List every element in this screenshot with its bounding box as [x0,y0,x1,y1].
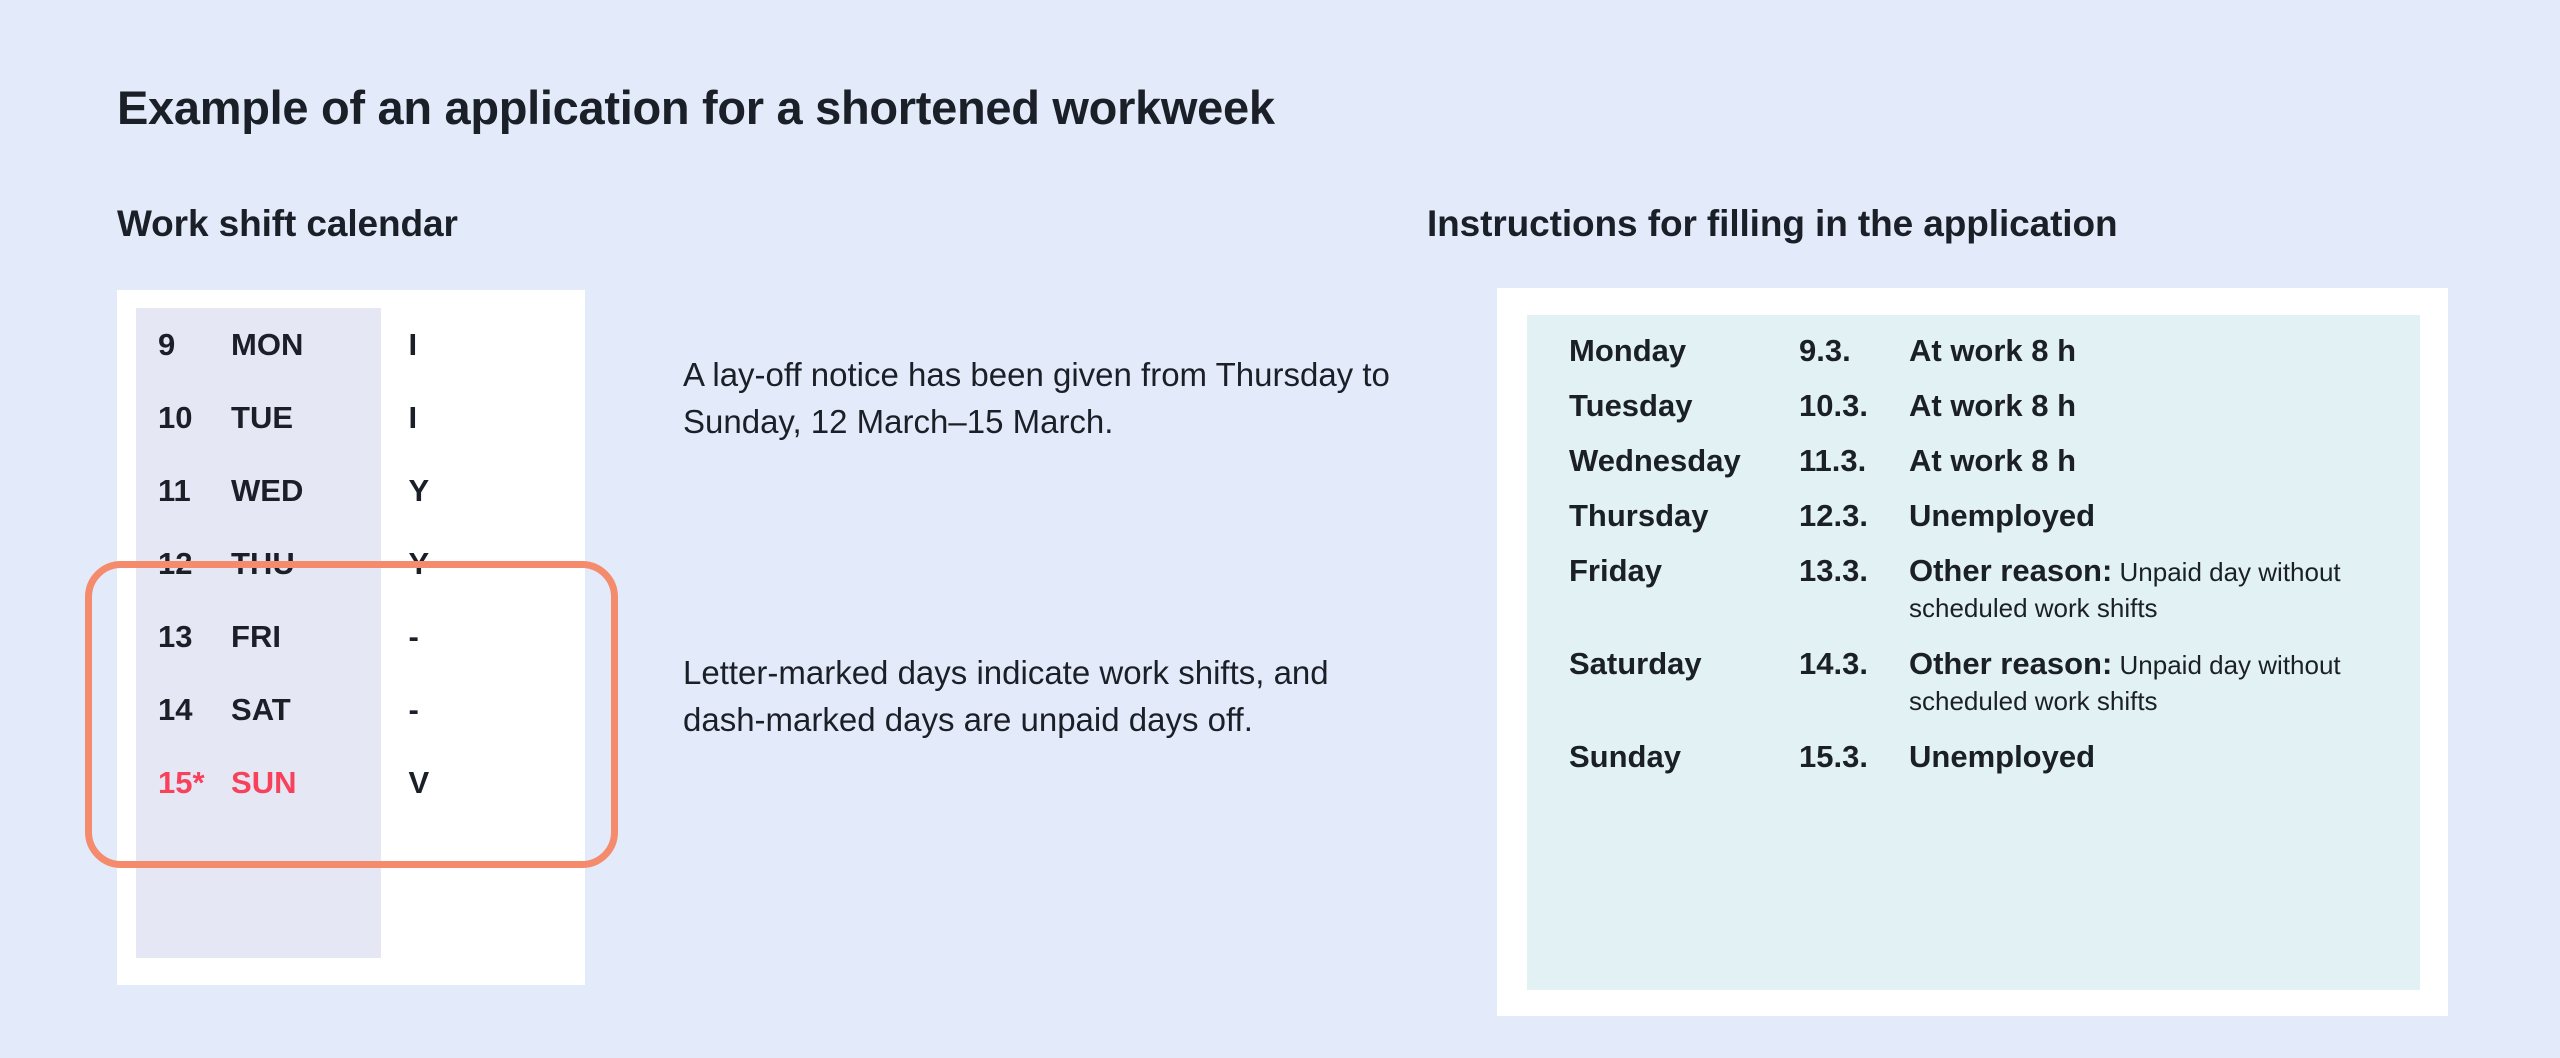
instruction-status-label: Unemployed [1909,739,2095,774]
calendar-day-number: 12 [136,527,231,600]
instruction-status: At work 8 h [1909,333,2399,369]
calendar-day-name: MON [231,308,365,381]
instruction-row: Wednesday11.3.At work 8 h [1569,443,2399,479]
instruction-status-label: Unemployed [1909,498,2095,533]
instruction-status: Unemployed [1909,739,2399,775]
calendar-day-number: 14 [136,673,231,746]
instruction-date: 13.3. [1799,553,1909,589]
calendar-shift-mark: Y [365,454,576,527]
calendar-shift-mark: V [365,746,576,819]
calendar-day-name: FRI [231,600,365,673]
calendar-day-name: TUE [231,381,365,454]
calendar-row: 15*SUNV [136,746,576,819]
explanation-letter-marks: Letter-marked days indicate work shifts,… [683,650,1413,744]
instruction-status: At work 8 h [1909,443,2399,479]
instruction-date: 9.3. [1799,333,1909,369]
instruction-date: 12.3. [1799,498,1909,534]
calendar-row: 14SAT- [136,673,576,746]
calendar-day-name: WED [231,454,365,527]
instruction-row: Saturday14.3.Other reason: Unpaid day wi… [1569,646,2399,718]
instruction-row: Sunday15.3.Unemployed [1569,739,2399,775]
calendar-day-number: 13 [136,600,231,673]
instruction-status: Other reason: Unpaid day without schedul… [1909,646,2399,718]
calendar-day-number: 9 [136,308,231,381]
page-title: Example of an application for a shortene… [117,80,1275,135]
instruction-day-name: Monday [1569,333,1799,369]
instruction-row: Tuesday10.3.At work 8 h [1569,388,2399,424]
instruction-day-name: Tuesday [1569,388,1799,424]
instruction-row: Friday13.3.Other reason: Unpaid day with… [1569,553,2399,625]
calendar-row: 11WEDY [136,454,576,527]
work-shift-calendar-card: 9MONI10TUEI11WEDY12THUY13FRI-14SAT-15*SU… [117,290,585,985]
instructions-inner-panel: Monday9.3.At work 8 hTuesday10.3.At work… [1527,315,2420,990]
calendar-row: 13FRI- [136,600,576,673]
instruction-status-label: Other reason: [1909,553,2112,588]
instruction-status-label: At work 8 h [1909,443,2076,478]
instruction-day-name: Saturday [1569,646,1799,682]
instruction-status: At work 8 h [1909,388,2399,424]
calendar-row: 12THUY [136,527,576,600]
calendar-shift-mark: - [365,600,576,673]
instruction-date: 14.3. [1799,646,1909,682]
calendar-day-name: SAT [231,673,365,746]
infographic-page: Example of an application for a shortene… [0,0,2560,1058]
calendar-day-name: SUN [231,746,365,819]
instruction-status: Other reason: Unpaid day without schedul… [1909,553,2399,625]
instructions-card: Monday9.3.At work 8 hTuesday10.3.At work… [1497,288,2448,1016]
instructions-section-heading: Instructions for filling in the applicat… [1427,203,2117,245]
calendar-day-number: 15* [136,746,231,819]
instruction-day-name: Sunday [1569,739,1799,775]
work-shift-calendar-table: 9MONI10TUEI11WEDY12THUY13FRI-14SAT-15*SU… [136,308,576,819]
instruction-status-label: Other reason: [1909,646,2112,681]
calendar-section-heading: Work shift calendar [117,203,458,245]
explanation-layoff-notice: A lay-off notice has been given from Thu… [683,352,1413,446]
calendar-row: 10TUEI [136,381,576,454]
calendar-shift-mark: - [365,673,576,746]
calendar-day-number: 11 [136,454,231,527]
instruction-day-name: Friday [1569,553,1799,589]
instruction-date: 11.3. [1799,443,1909,479]
instruction-status-label: At work 8 h [1909,333,2076,368]
instruction-date: 15.3. [1799,739,1909,775]
instruction-status: Unemployed [1909,498,2399,534]
instruction-row: Thursday12.3.Unemployed [1569,498,2399,534]
calendar-row: 9MONI [136,308,576,381]
instruction-day-name: Wednesday [1569,443,1799,479]
calendar-day-number: 10 [136,381,231,454]
instruction-row: Monday9.3.At work 8 h [1569,333,2399,369]
calendar-shift-mark: I [365,381,576,454]
calendar-shift-mark: Y [365,527,576,600]
instruction-status-label: At work 8 h [1909,388,2076,423]
calendar-shift-mark: I [365,308,576,381]
instruction-day-name: Thursday [1569,498,1799,534]
calendar-day-name: THU [231,527,365,600]
instruction-date: 10.3. [1799,388,1909,424]
